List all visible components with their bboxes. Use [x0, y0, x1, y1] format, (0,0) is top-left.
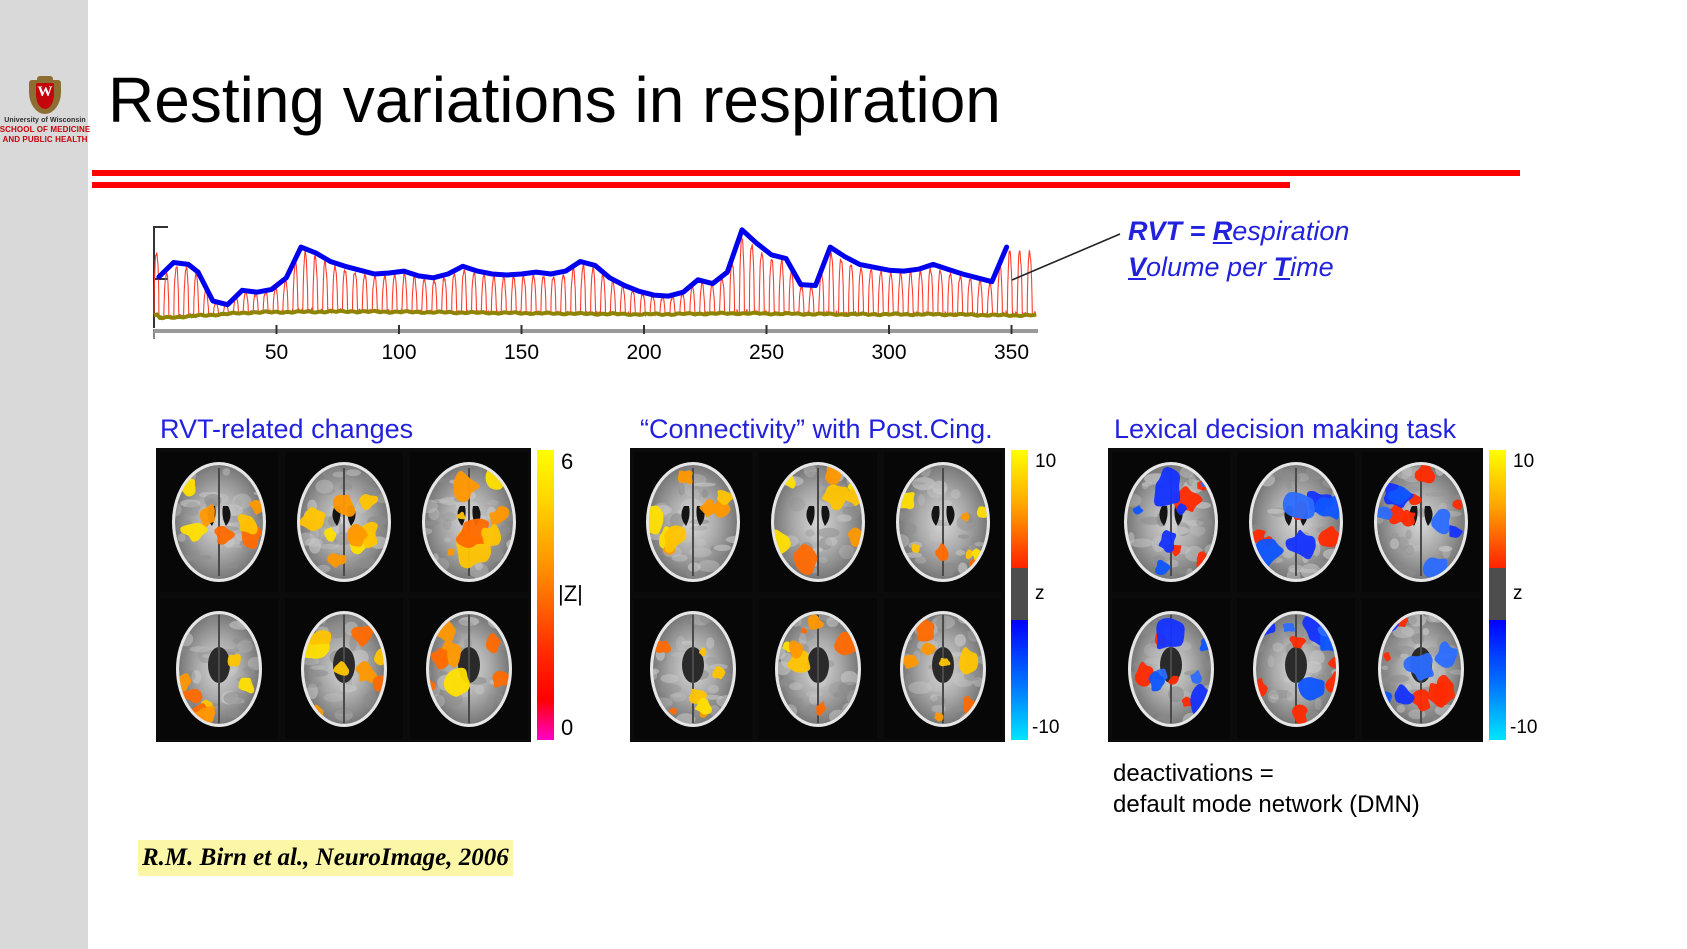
- rvt-volume-word: olume per: [1146, 252, 1274, 282]
- brain-slice: [1362, 452, 1480, 592]
- x-tick-label: 50: [265, 341, 288, 365]
- brain-montage-rvt-related: [156, 448, 531, 742]
- title-rule-upper: [92, 170, 1520, 176]
- colorbar-lexical-neutral: [1489, 568, 1506, 620]
- x-axis-labels: 50100150200250300350: [140, 327, 1040, 355]
- page-title: Resting variations in respiration: [108, 62, 1001, 138]
- colorbar-rvt-related: [537, 450, 554, 740]
- uw-logo: W University of Wisconsin SCHOOL OF MEDI…: [4, 76, 86, 154]
- brain-slice: [1237, 599, 1355, 739]
- brain-slice: [410, 599, 528, 739]
- dmn-caption-line-1: deactivations =: [1113, 758, 1420, 789]
- dmn-caption: deactivations = default mode network (DM…: [1113, 758, 1420, 820]
- brain-slice-cell: [1233, 595, 1358, 742]
- colorbar2-max-label: 10: [1035, 450, 1056, 474]
- citation: R.M. Birn et al., NeuroImage, 2006: [138, 840, 513, 876]
- brain-montage-lexical: [1108, 448, 1483, 742]
- brain-slice-cell: [281, 595, 406, 742]
- brain-slice: [1112, 599, 1230, 739]
- brain-slice-cell: [1358, 595, 1483, 742]
- colorbar3-max-label: 10: [1513, 450, 1534, 474]
- colorbar2-min-label: -10: [1032, 716, 1059, 740]
- colorbar-connectivity-positive: [1011, 450, 1028, 568]
- logo-school-line-1: SCHOOL OF MEDICINE: [0, 125, 90, 135]
- logo-school-line-2: AND PUBLIC HEALTH: [2, 135, 87, 145]
- rvt-r-initial: R: [1213, 216, 1233, 246]
- colorbar-lexical-positive: [1489, 450, 1506, 568]
- colorbar3-mid-label: z: [1513, 582, 1523, 606]
- brain-slice: [1112, 452, 1230, 592]
- x-tick-label: 150: [504, 341, 539, 365]
- brain-slice-cell: [880, 448, 1005, 595]
- brain-slice-cell: [755, 595, 880, 742]
- brain-slice-cell: [1108, 595, 1233, 742]
- brain-slice-cell: [880, 595, 1005, 742]
- x-tick-label: 300: [871, 341, 906, 365]
- brain-slice-cell: [281, 448, 406, 595]
- brain-montage-connectivity: [630, 448, 1005, 742]
- rvt-v-initial: V: [1128, 252, 1146, 282]
- brain-slice-cell: [156, 448, 281, 595]
- brain-slice: [410, 452, 528, 592]
- x-tick-label: 250: [749, 341, 784, 365]
- rvt-definition-annotation: RVT = Respiration Volume per Time: [1128, 213, 1349, 285]
- brain-slice: [759, 452, 877, 592]
- colorbar-connectivity-negative: [1011, 620, 1028, 740]
- brain-slice: [1237, 452, 1355, 592]
- brain-slice: [285, 452, 403, 592]
- dmn-caption-line-2: default mode network (DMN): [1113, 789, 1420, 820]
- brain-slice-cell: [630, 448, 755, 595]
- title-rule-lower: [92, 182, 1290, 188]
- rvt-definition-line-2: Volume per Time: [1128, 249, 1349, 285]
- brain-slice: [285, 599, 403, 739]
- brain-slice: [759, 599, 877, 739]
- colorbar-lexical-negative: [1489, 620, 1506, 740]
- brain-slice: [634, 599, 752, 739]
- brain-slice: [1362, 599, 1480, 739]
- brain-slice-cell: [406, 595, 531, 742]
- brain-slice: [884, 452, 1002, 592]
- panel-heading-connectivity: “Connectivity” with Post.Cing.: [640, 413, 993, 445]
- brain-slice: [884, 599, 1002, 739]
- annotation-leader-line: [1010, 222, 1130, 292]
- brain-slice-cell: [1108, 448, 1233, 595]
- brain-slice-cell: [1233, 448, 1358, 595]
- colorbar-connectivity-neutral: [1011, 568, 1028, 620]
- brain-slice-cell: [630, 595, 755, 742]
- x-tick-label: 350: [994, 341, 1029, 365]
- x-tick-label: 200: [626, 341, 661, 365]
- colorbar3-min-label: -10: [1510, 716, 1537, 740]
- w-letter: W: [29, 85, 61, 100]
- brain-slice-cell: [1358, 448, 1483, 595]
- logo-university-line: University of Wisconsin: [4, 116, 86, 125]
- brain-slice-cell: [156, 595, 281, 742]
- brain-slice-cell: [755, 448, 880, 595]
- slide-canvas: W University of Wisconsin SCHOOL OF MEDI…: [0, 0, 1687, 949]
- x-tick-label: 100: [381, 341, 416, 365]
- brain-slice: [160, 452, 278, 592]
- colorbar1-max-label: 6: [561, 450, 573, 474]
- panel-heading-rvt-related: RVT-related changes: [160, 413, 413, 445]
- panel-heading-lexical: Lexical decision making task: [1114, 413, 1456, 445]
- rvt-waveform-chart: [140, 222, 1040, 328]
- brain-slice-cell: [406, 448, 531, 595]
- rvt-time-word: ime: [1290, 252, 1334, 282]
- crest-icon: W: [29, 76, 61, 114]
- rvt-t-initial: T: [1274, 252, 1291, 282]
- rvt-chart-svg: [140, 222, 1040, 328]
- colorbar1-mid-label: |Z|: [558, 582, 583, 606]
- brain-slice: [160, 599, 278, 739]
- rvt-definition-line-1: RVT = Respiration: [1128, 213, 1349, 249]
- brain-slice: [634, 452, 752, 592]
- colorbar2-mid-label: z: [1035, 582, 1045, 606]
- rvt-abbrev: RVT =: [1128, 216, 1213, 246]
- colorbar1-min-label: 0: [561, 716, 573, 740]
- rvt-respiration-word: espiration: [1232, 216, 1349, 246]
